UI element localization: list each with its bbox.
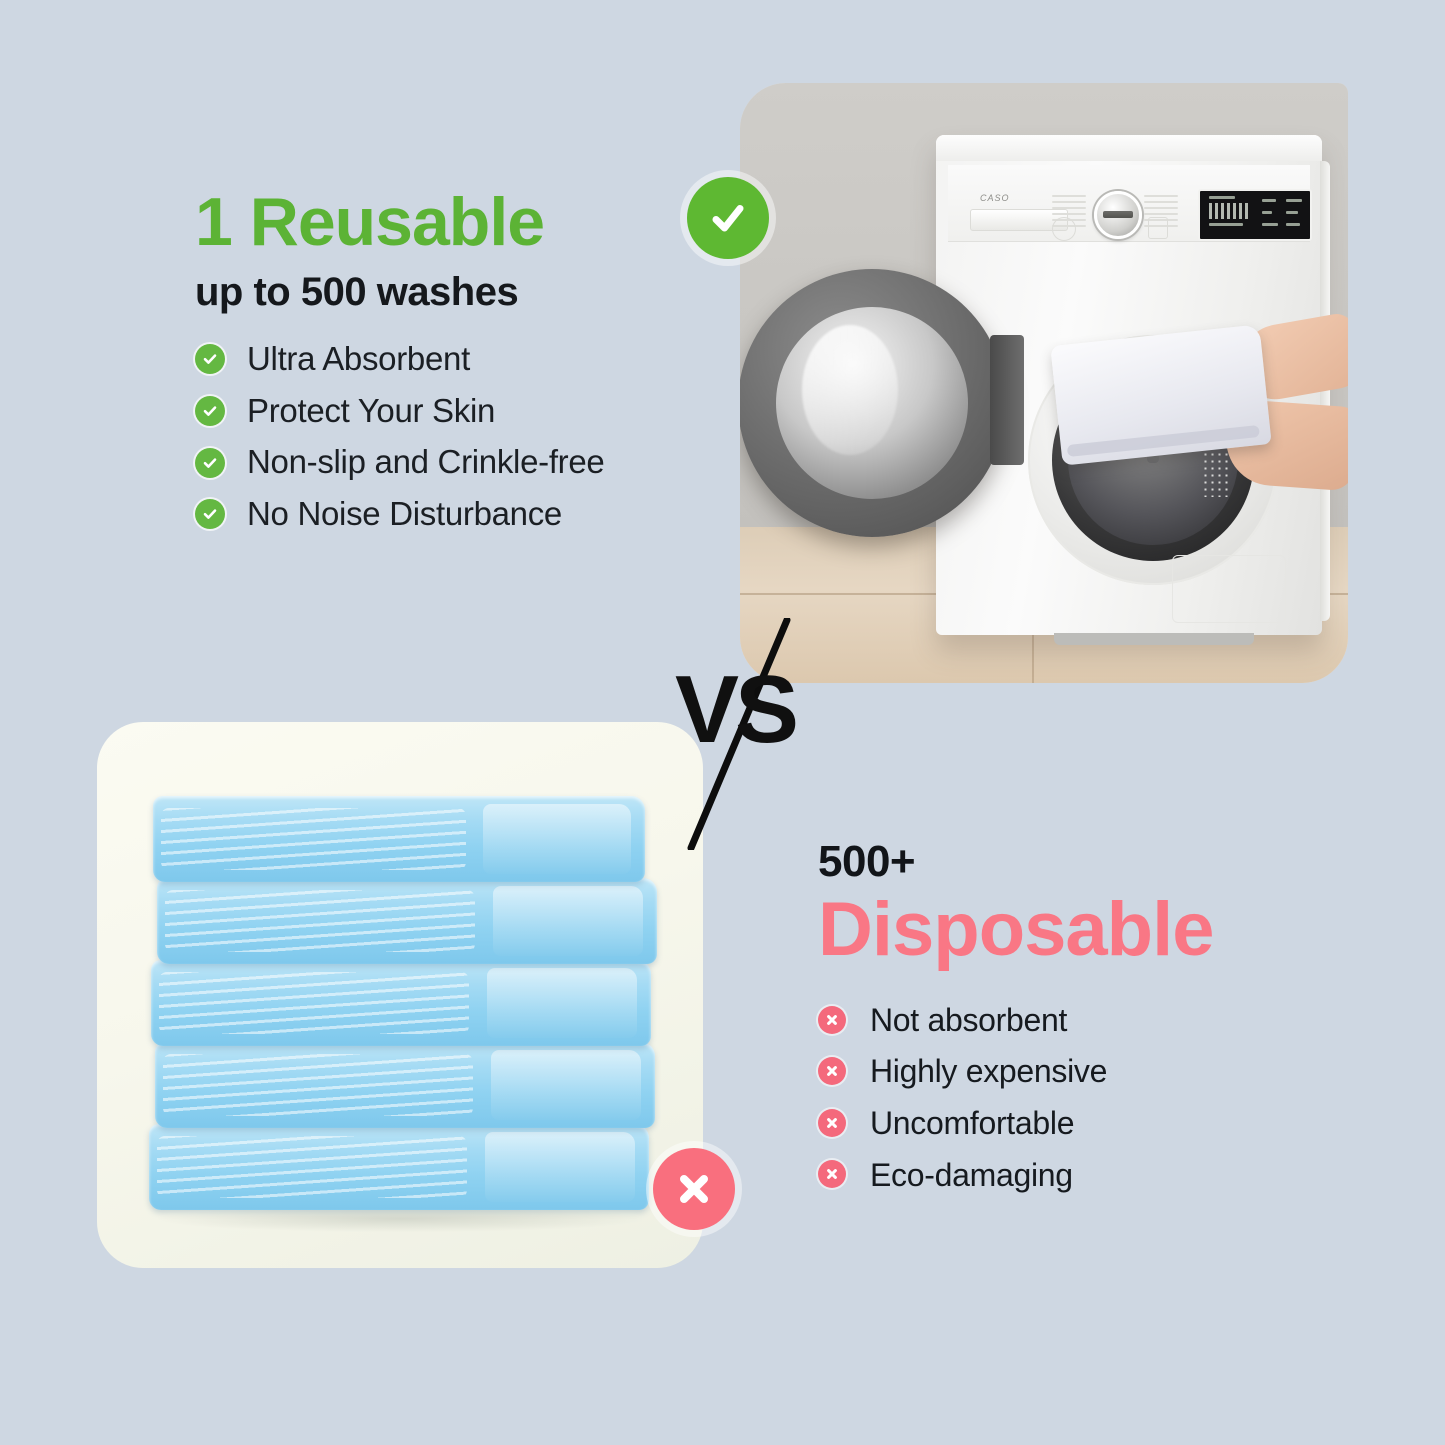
door-glass (776, 307, 968, 499)
brand-logo: CASO (980, 193, 1010, 203)
lcd-segments (1209, 203, 1251, 219)
disposable-heading: Disposable (818, 890, 1378, 970)
check-circle-icon (195, 396, 225, 426)
feature-label: Non-slip and Crinkle-free (247, 445, 604, 480)
folded-reusable-pad (1050, 324, 1271, 465)
washer-door-open (740, 269, 1006, 537)
reusable-feature-list: Ultra Absorbent Protect Your Skin (195, 342, 715, 532)
option-button (1148, 217, 1168, 239)
x-circle-icon (818, 1057, 848, 1087)
pad-layer (149, 1124, 649, 1210)
list-item: Not absorbent (818, 1004, 1378, 1038)
disposable-drawback-list: Not absorbent Highly expensive (818, 1004, 1378, 1192)
machine-top-surface (936, 135, 1322, 161)
x-circle-icon (818, 1109, 848, 1139)
list-item: Eco-damaging (818, 1159, 1378, 1193)
reusable-section: 1 Reusable up to 500 washes Ultra Absorb… (195, 188, 715, 549)
power-button (1052, 217, 1076, 241)
versus-marker: VS (655, 618, 855, 850)
x-circle-icon (818, 1006, 848, 1036)
list-item: Ultra Absorbent (195, 342, 715, 377)
washing-machine-photo: CASO (740, 83, 1348, 683)
check-circle-icon (195, 499, 225, 529)
feature-label: Ultra Absorbent (247, 342, 470, 377)
list-item: Highly expensive (818, 1055, 1378, 1089)
drawback-label: Eco-damaging (870, 1159, 1073, 1193)
pad-layer (151, 960, 651, 1046)
door-hinge (990, 335, 1024, 465)
feature-label: Protect Your Skin (247, 394, 495, 429)
list-item: Uncomfortable (818, 1107, 1378, 1141)
list-item: Non-slip and Crinkle-free (195, 445, 715, 480)
pad-layer (155, 1042, 655, 1128)
x-circle-icon (818, 1160, 848, 1190)
lcd-display (1198, 189, 1312, 241)
drawback-label: Not absorbent (870, 1004, 1067, 1038)
pad-stack (149, 790, 649, 1210)
program-dial (1094, 191, 1142, 239)
check-circle-icon (195, 448, 225, 478)
disposable-pads-photo (97, 722, 703, 1268)
drawback-label: Uncomfortable (870, 1107, 1074, 1141)
feature-label: No Noise Disturbance (247, 497, 562, 532)
disposable-count: 500+ (818, 840, 1378, 884)
pad-layer (157, 878, 657, 964)
list-item: Protect Your Skin (195, 394, 715, 429)
drawback-label: Highly expensive (870, 1055, 1107, 1089)
reusable-subheading: up to 500 washes (195, 272, 715, 312)
versus-label: VS (675, 662, 795, 758)
check-circle-icon (195, 344, 225, 374)
reusable-heading: 1 Reusable (195, 188, 715, 256)
machine-foot (1054, 633, 1254, 645)
control-panel: CASO (948, 165, 1310, 242)
kickplate-panel (1172, 555, 1286, 623)
pad-layer (153, 796, 645, 882)
x-circle-icon (653, 1148, 735, 1230)
list-item: No Noise Disturbance (195, 497, 715, 532)
infographic-canvas: CASO (0, 0, 1445, 1445)
disposable-section: 500+ Disposable Not absorbent (818, 840, 1378, 1210)
